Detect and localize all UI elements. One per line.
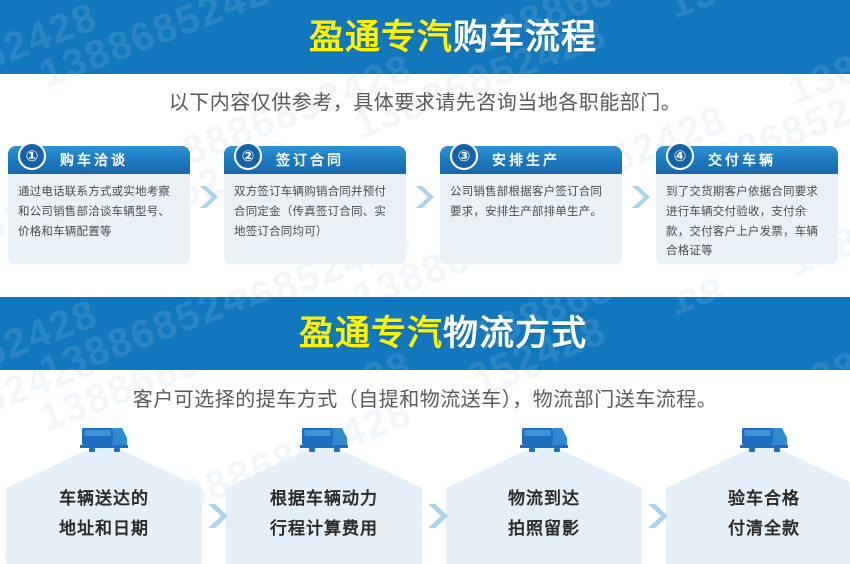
logistics-card-2-text: 根据车辆动力 行程计算费用: [226, 484, 422, 544]
step-3-number: ③: [450, 142, 478, 170]
banner1-brand: 盈通专汽: [309, 18, 453, 57]
logistics-card-3-line2: 拍照留影: [446, 514, 642, 544]
banner1-inner: 盈通专汽购车流程: [0, 0, 850, 74]
step-2-title: 签订合同: [276, 150, 344, 170]
step-4-title: 交付车辆: [708, 150, 776, 170]
step-card-1[interactable]: ① 购车洽谈 通过电话联系方式或实地考察和公司销售部洽谈车辆型号、价格和车辆配置…: [8, 146, 190, 264]
logistics-card-1-line2: 地址和日期: [6, 514, 202, 544]
logistics-card-4-text: 验车合格 付清全款: [666, 484, 850, 544]
truck-icon-1: [78, 426, 130, 456]
subtitle-purchase-process: 以下内容仅供参考，具体要求请先咨询当地各职能部门。: [0, 86, 850, 115]
step-card-3[interactable]: ③ 安排生产 公司销售部根据客户签订合同要求，安排生产部排单生产。: [440, 146, 622, 264]
logistics-card-3[interactable]: 物流到达 拍照留影: [446, 442, 642, 564]
banner-purchase-process: 1388685242813886852428138868524281388685…: [0, 0, 850, 74]
step-1-body: 通过电话联系方式或实地考察和公司销售部洽谈车辆型号、价格和车辆配置等: [8, 174, 190, 264]
banner1-heading: 购车流程: [453, 18, 597, 57]
truck-icon-2: [298, 426, 350, 456]
logistics-card-1-text: 车辆送达的 地址和日期: [6, 484, 202, 544]
banner2-title: 盈通专汽物流方式: [299, 316, 587, 351]
step-2-body: 双方签订车辆购销合同并预付合同定金（传真签订合同、实地签订合同均可）: [224, 174, 406, 264]
step-4-body: 到了交货期客户依据合同要求进行车辆交付验收，支付余款，交付客户上户发票，车辆合格…: [656, 174, 838, 264]
banner2-brand: 盈通专汽: [299, 314, 443, 353]
chevron-right-icon-step-2: [413, 184, 435, 210]
step-card-2[interactable]: ② 签订合同 双方签订车辆购销合同并预付合同定金（传真签订合同、实地签订合同均可…: [224, 146, 406, 264]
chevron-right-icon-logi-1: [205, 502, 229, 530]
banner2-heading: 物流方式: [443, 314, 587, 353]
logistics-card-2-line2: 行程计算费用: [226, 514, 422, 544]
logistics-card-3-text: 物流到达 拍照留影: [446, 484, 642, 544]
banner1-title: 盈通专汽购车流程: [309, 20, 597, 55]
logistics-card-1-line1: 车辆送达的: [6, 484, 202, 514]
chevron-right-icon-step-3: [629, 184, 651, 210]
truck-icon-3: [518, 426, 570, 456]
step-2-number: ②: [234, 142, 262, 170]
step-1-header: ① 购车洽谈: [8, 146, 190, 174]
chevron-right-icon-step-1: [197, 184, 219, 210]
step-4-header: ④ 交付车辆: [656, 146, 838, 174]
banner2-inner: 盈通专汽物流方式: [0, 297, 850, 370]
step-4-number: ④: [666, 142, 694, 170]
step-card-4[interactable]: ④ 交付车辆 到了交货期客户依据合同要求进行车辆交付验收，支付余款，交付客户上户…: [656, 146, 838, 264]
logistics-card-2-line1: 根据车辆动力: [226, 484, 422, 514]
banner-logistics: 1388685242813886852428138868524281388685…: [0, 297, 850, 370]
logistics-card-4-line1: 验车合格: [666, 484, 850, 514]
chevron-right-icon-logi-3: [645, 502, 669, 530]
step-2-header: ② 签订合同: [224, 146, 406, 174]
subtitle-logistics: 客户可选择的提车方式（自提和物流送车），物流部门送车流程。: [0, 383, 850, 412]
logistics-card-3-line1: 物流到达: [446, 484, 642, 514]
step-1-number: ①: [18, 142, 46, 170]
logistics-card-1[interactable]: 车辆送达的 地址和日期: [6, 442, 202, 564]
step-3-title: 安排生产: [492, 150, 560, 170]
truck-icon-4: [738, 426, 790, 456]
logistics-card-4[interactable]: 验车合格 付清全款: [666, 442, 850, 564]
logistics-card-2[interactable]: 根据车辆动力 行程计算费用: [226, 442, 422, 564]
logistics-card-4-line2: 付清全款: [666, 514, 850, 544]
chevron-right-icon-logi-2: [425, 502, 449, 530]
step-3-body: 公司销售部根据客户签订合同要求，安排生产部排单生产。: [440, 174, 622, 264]
step-3-header: ③ 安排生产: [440, 146, 622, 174]
step-1-title: 购车洽谈: [60, 150, 128, 170]
logistics-row: 车辆送达的 地址和日期 根据车辆动力: [0, 428, 850, 564]
infographic-page: 1388685242813886852428138868524281388685…: [0, 0, 850, 564]
steps-row: ① 购车洽谈 通过电话联系方式或实地考察和公司销售部洽谈车辆型号、价格和车辆配置…: [0, 140, 850, 265]
